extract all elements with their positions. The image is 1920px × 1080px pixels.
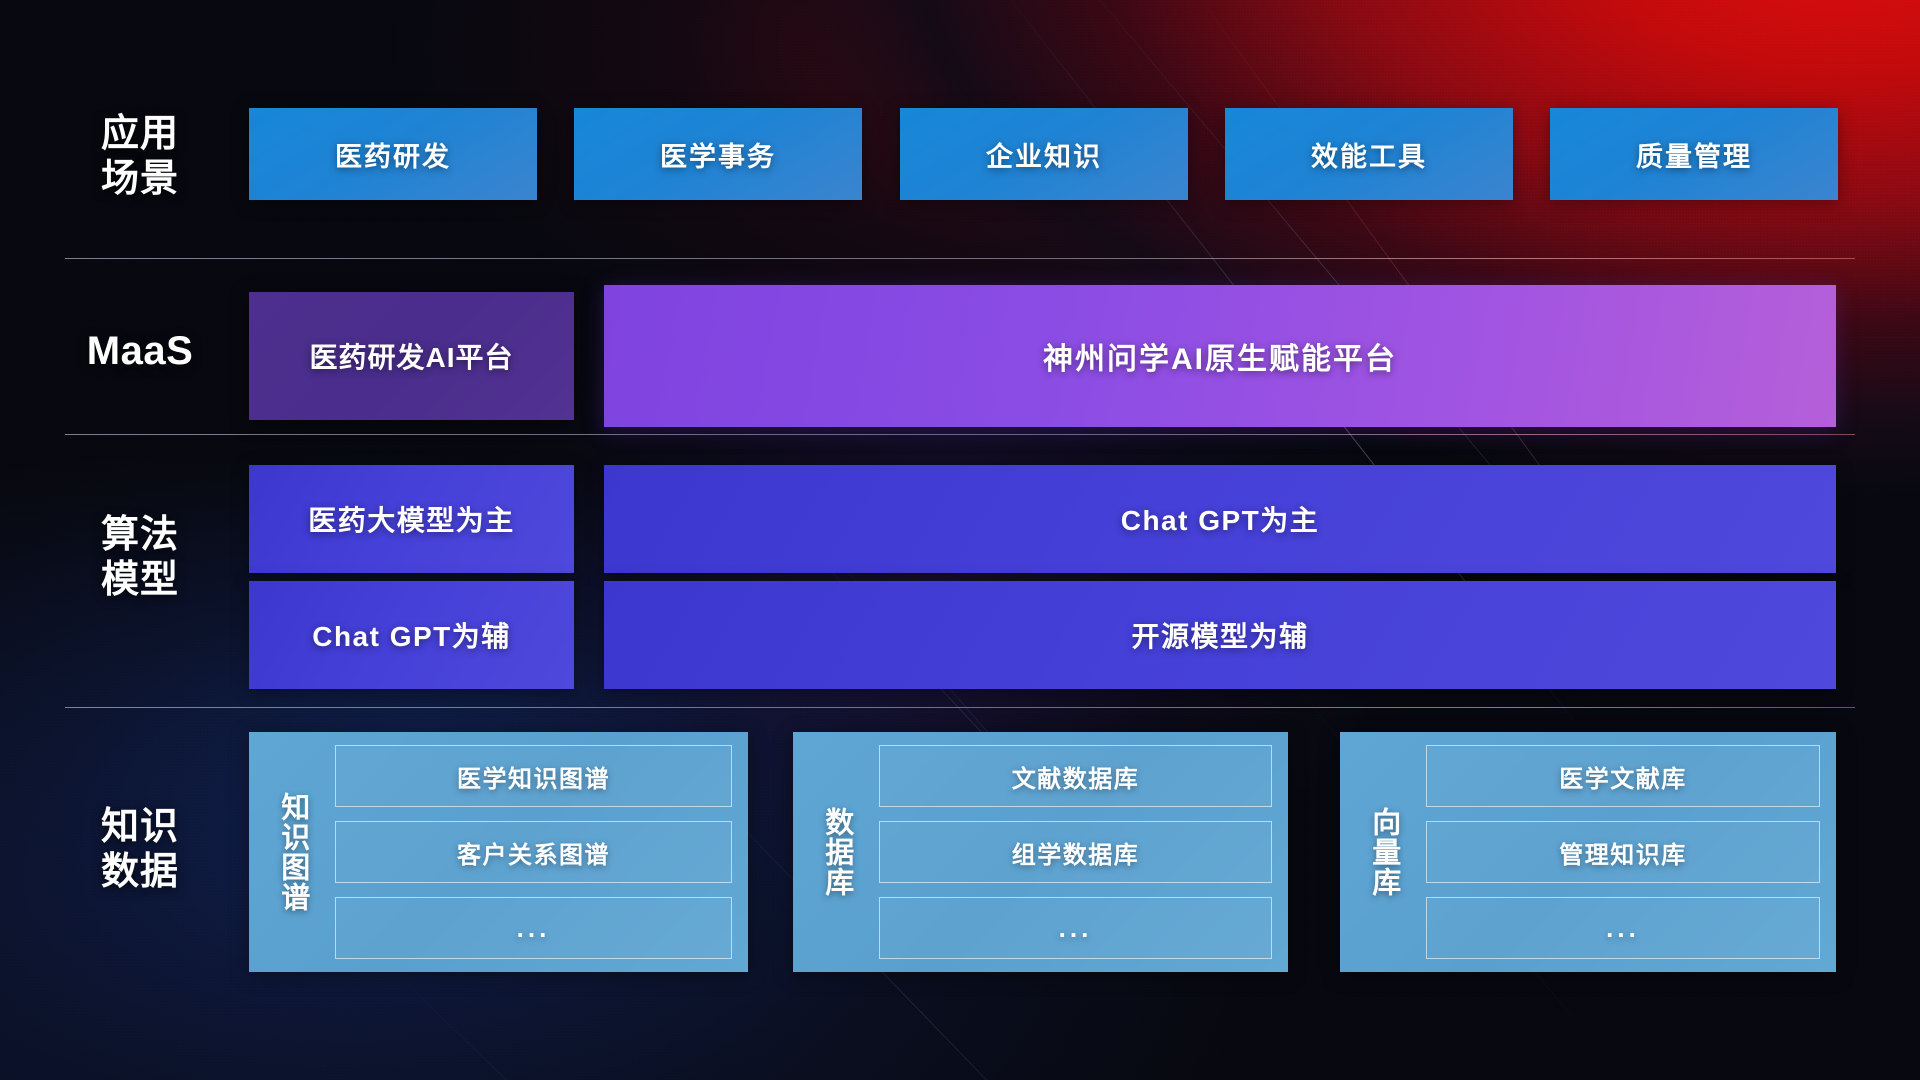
row-label-knowledge-data: 知识 数据 [60,805,220,895]
algorithm-label: Chat GPT为主 [1121,499,1320,539]
algorithm-left-box-2[interactable]: Chat GPT为辅 [249,581,574,689]
maas-left-box[interactable]: 医药研发AI平台 [249,292,574,420]
app-scenario-box-1[interactable]: 医药研发 [249,108,537,200]
app-scenario-label: 医学事务 [660,135,776,174]
row-label-application-scenarios: 应用 场景 [60,112,220,202]
row-label-line: 模型 [60,558,220,603]
knowledge-group-title: 数据库 [807,745,865,959]
algorithm-label: Chat GPT为辅 [312,615,511,655]
app-scenario-label: 效能工具 [1311,135,1427,174]
maas-left-label: 医药研发AI平台 [309,336,513,376]
row-label-line: 应用 [60,112,220,157]
knowledge-item[interactable]: 文献数据库 [879,745,1272,807]
row-label-line: 数据 [60,850,220,895]
maas-right-box[interactable]: 神州问学AI原生赋能平台 [604,285,1836,427]
knowledge-item[interactable]: 管理知识库 [1426,821,1820,883]
app-scenario-label: 医药研发 [335,135,451,174]
app-scenario-label: 质量管理 [1636,135,1752,174]
divider-application-maas [65,258,1855,259]
knowledge-group-title: 向量库 [1354,745,1412,959]
knowledge-item-more[interactable]: ... [1426,897,1820,959]
app-scenario-box-2[interactable]: 医学事务 [574,108,862,200]
app-scenario-box-5[interactable]: 质量管理 [1550,108,1838,200]
algorithm-right-box-1[interactable]: Chat GPT为主 [604,465,1836,573]
row-label-algorithm-models: 算法 模型 [60,513,220,603]
row-label-line: 场景 [60,157,220,202]
divider-algorithm-knowledge [65,707,1855,708]
app-scenario-box-3[interactable]: 企业知识 [900,108,1188,200]
algorithm-label: 医药大模型为主 [308,499,515,539]
knowledge-item-more[interactable]: ... [335,897,732,959]
algorithm-right-box-2[interactable]: 开源模型为辅 [604,581,1836,689]
knowledge-group-items: 医学知识图谱 客户关系图谱 ... [321,745,732,959]
architecture-diagram: 应用 场景 MaaS 算法 模型 知识 数据 医药研发 医学事务 企业知识 效能… [0,0,1920,1080]
knowledge-group-title: 知识图谱 [263,745,321,959]
knowledge-item[interactable]: 医学文献库 [1426,745,1820,807]
row-label-line: MaaS [60,328,220,375]
row-label-line: 知识 [60,805,220,850]
knowledge-item[interactable]: 医学知识图谱 [335,745,732,807]
app-scenario-box-4[interactable]: 效能工具 [1225,108,1513,200]
knowledge-group-database[interactable]: 数据库 文献数据库 组学数据库 ... [793,732,1288,972]
knowledge-group-vector-store[interactable]: 向量库 医学文献库 管理知识库 ... [1340,732,1836,972]
knowledge-group-items: 医学文献库 管理知识库 ... [1412,745,1820,959]
knowledge-item-more[interactable]: ... [879,897,1272,959]
knowledge-group-knowledge-graph[interactable]: 知识图谱 医学知识图谱 客户关系图谱 ... [249,732,748,972]
maas-right-label: 神州问学AI原生赋能平台 [1043,334,1397,378]
row-label-maas: MaaS [60,328,220,375]
algorithm-label: 开源模型为辅 [1131,615,1308,655]
algorithm-left-box-1[interactable]: 医药大模型为主 [249,465,574,573]
knowledge-item[interactable]: 组学数据库 [879,821,1272,883]
divider-maas-algorithm [65,434,1855,435]
knowledge-group-items: 文献数据库 组学数据库 ... [865,745,1272,959]
app-scenario-label: 企业知识 [986,135,1102,174]
knowledge-item[interactable]: 客户关系图谱 [335,821,732,883]
row-label-line: 算法 [60,513,220,558]
